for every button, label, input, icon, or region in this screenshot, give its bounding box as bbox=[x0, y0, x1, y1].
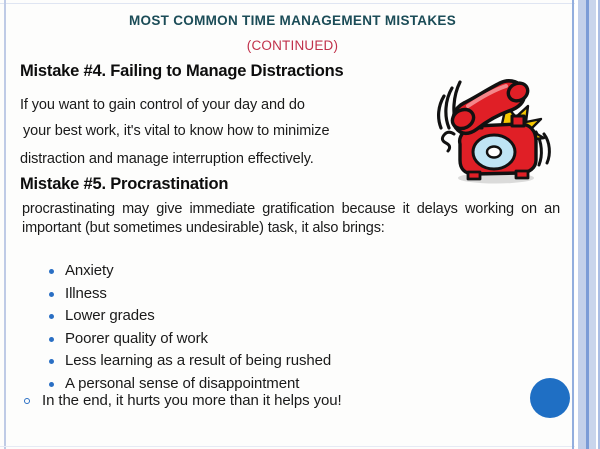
mistake-5-paragraph: procrastinating may give immediate grati… bbox=[22, 200, 560, 238]
list-item: Anxiety bbox=[46, 260, 331, 283]
list-item-label: Poorer quality of work bbox=[65, 330, 208, 347]
list-item-label: Less learning as a result of being rushe… bbox=[65, 352, 331, 369]
bullet-dot-icon bbox=[49, 359, 54, 364]
slide-rail-stripe-1 bbox=[572, 0, 574, 449]
slide-canvas: MOST COMMON TIME MANAGEMENT MISTAKES (CO… bbox=[0, 0, 600, 449]
ringing-telephone-icon bbox=[432, 62, 562, 187]
list-item-label: Illness bbox=[65, 285, 107, 302]
list-item-label: Lower grades bbox=[65, 307, 155, 324]
bullet-dot-icon bbox=[49, 269, 54, 274]
decorative-blue-circle bbox=[530, 378, 570, 418]
bullet-dot-icon bbox=[49, 314, 54, 319]
conclusion-label: In the end, it hurts you more than it he… bbox=[42, 392, 342, 409]
list-item: Illness bbox=[46, 283, 331, 306]
list-item: Less learning as a result of being rushe… bbox=[46, 350, 331, 373]
list-item-label: Anxiety bbox=[65, 262, 114, 279]
bullet-dot-icon bbox=[49, 382, 54, 387]
mistake-4-line-3: distraction and manage interruption effe… bbox=[20, 151, 314, 167]
list-item-label: A personal sense of disappointment bbox=[65, 375, 299, 392]
mistake-5-heading: Mistake #5. Procrastination bbox=[20, 175, 228, 194]
list-item: Poorer quality of work bbox=[46, 328, 331, 351]
mistake-4-heading: Mistake #4. Failing to Manage Distractio… bbox=[20, 62, 344, 81]
slide-border-left bbox=[4, 0, 6, 449]
conclusion-line: In the end, it hurts you more than it he… bbox=[22, 392, 342, 409]
slide-border-bottom bbox=[0, 446, 600, 447]
slide-rail-stripe-3 bbox=[578, 0, 586, 449]
slide-title: MOST COMMON TIME MANAGEMENT MISTAKES bbox=[30, 13, 555, 28]
bullet-dot-icon bbox=[49, 337, 54, 342]
bullet-dot-icon bbox=[49, 292, 54, 297]
slide-rail-stripe-5 bbox=[589, 0, 596, 449]
slide-border-top bbox=[0, 3, 600, 4]
procrastination-effects-list: Anxiety Illness Lower grades Poorer qual… bbox=[46, 260, 331, 395]
mistake-4-line-2: your best work, it's vital to know how t… bbox=[23, 123, 329, 139]
list-item: Lower grades bbox=[46, 305, 331, 328]
mistake-4-line-1: If you want to gain control of your day … bbox=[20, 97, 305, 113]
slide-subtitle: (CONTINUED) bbox=[30, 38, 555, 53]
bullet-ring-icon bbox=[24, 398, 30, 404]
